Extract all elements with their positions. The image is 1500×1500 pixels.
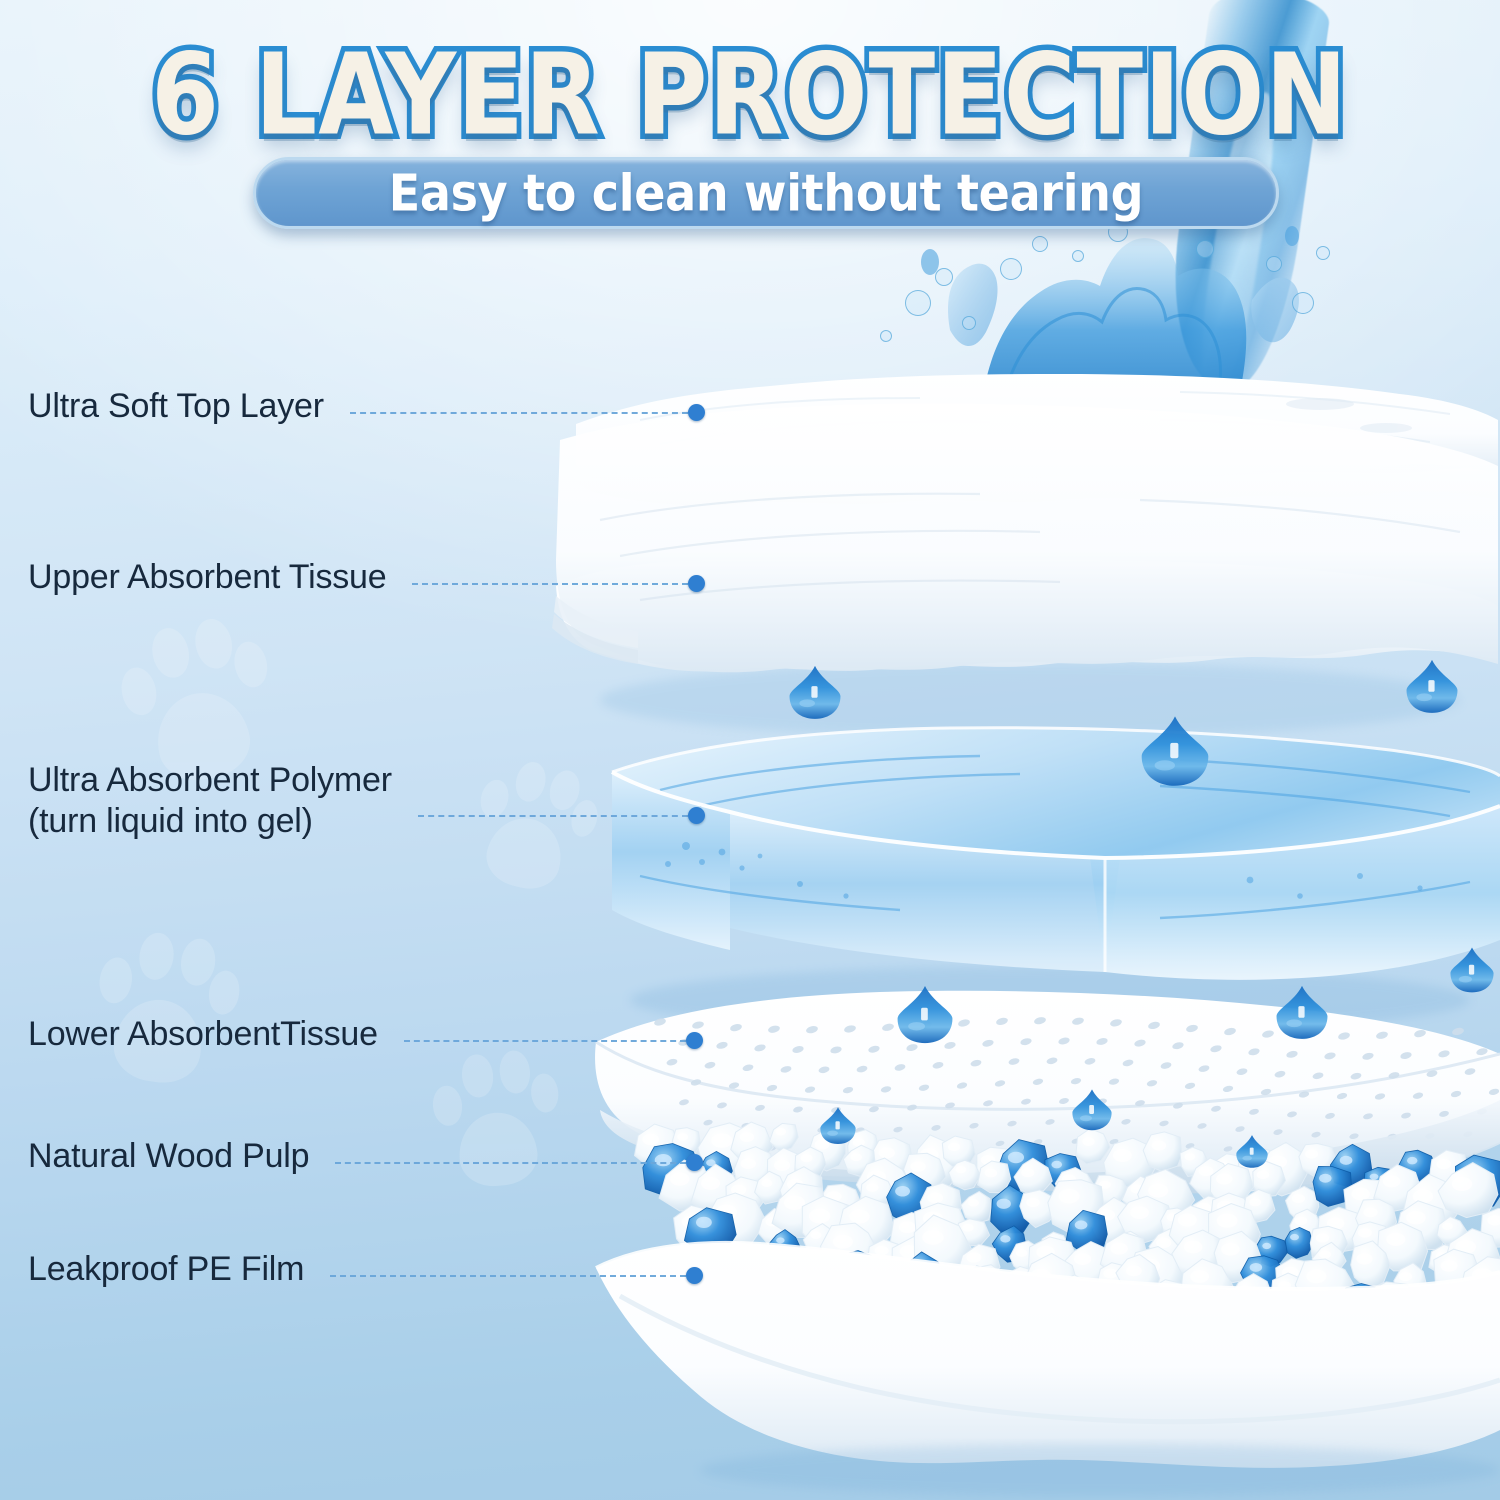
leader-line-ultra-soft-top-layer (350, 412, 688, 414)
infographic-canvas: Ultra Soft Top LayerUpper Absorbent Tiss… (0, 0, 1500, 1500)
title-block: 6 LAYER PROTECTION (0, 30, 1500, 137)
leader-dot-ultra-soft-top-layer (688, 404, 705, 421)
label-upper-absorbent-tissue: Upper Absorbent Tissue (28, 557, 386, 598)
leader-line-ultra-absorbent-polymer (418, 815, 688, 817)
water-droplet-icon (1407, 660, 1458, 713)
label-lower-absorbent-tissue: Lower AbsorbentTissue (28, 1014, 378, 1055)
label-natural-wood-pulp: Natural Wood Pulp (28, 1136, 309, 1177)
label-ultra-soft-top-layer: Ultra Soft Top Layer (28, 386, 324, 427)
label-leakproof-pe-film: Leakproof PE Film (28, 1249, 304, 1290)
leader-dot-lower-absorbent-tissue (686, 1032, 703, 1049)
label-ultra-absorbent-polymer: Ultra Absorbent Polymer (turn liquid int… (28, 760, 392, 843)
leader-line-leakproof-pe-film (330, 1275, 686, 1277)
sheet-ultra-absorbent-polymer (612, 728, 1500, 1034)
leader-dot-ultra-absorbent-polymer (688, 807, 705, 824)
leader-dot-upper-absorbent-tissue (688, 575, 705, 592)
leader-line-upper-absorbent-tissue (412, 583, 688, 585)
leader-line-lower-absorbent-tissue (404, 1040, 686, 1042)
page-title: 6 LAYER PROTECTION (152, 30, 1349, 161)
subtitle-banner: Easy to clean without tearing (253, 157, 1279, 229)
leader-dot-leakproof-pe-film (686, 1267, 703, 1284)
sheet-upper-absorbent-tissue (552, 404, 1498, 673)
leader-dot-natural-wood-pulp (686, 1154, 703, 1171)
subtitle-text: Easy to clean without tearing (389, 163, 1144, 222)
leader-line-natural-wood-pulp (335, 1162, 686, 1164)
